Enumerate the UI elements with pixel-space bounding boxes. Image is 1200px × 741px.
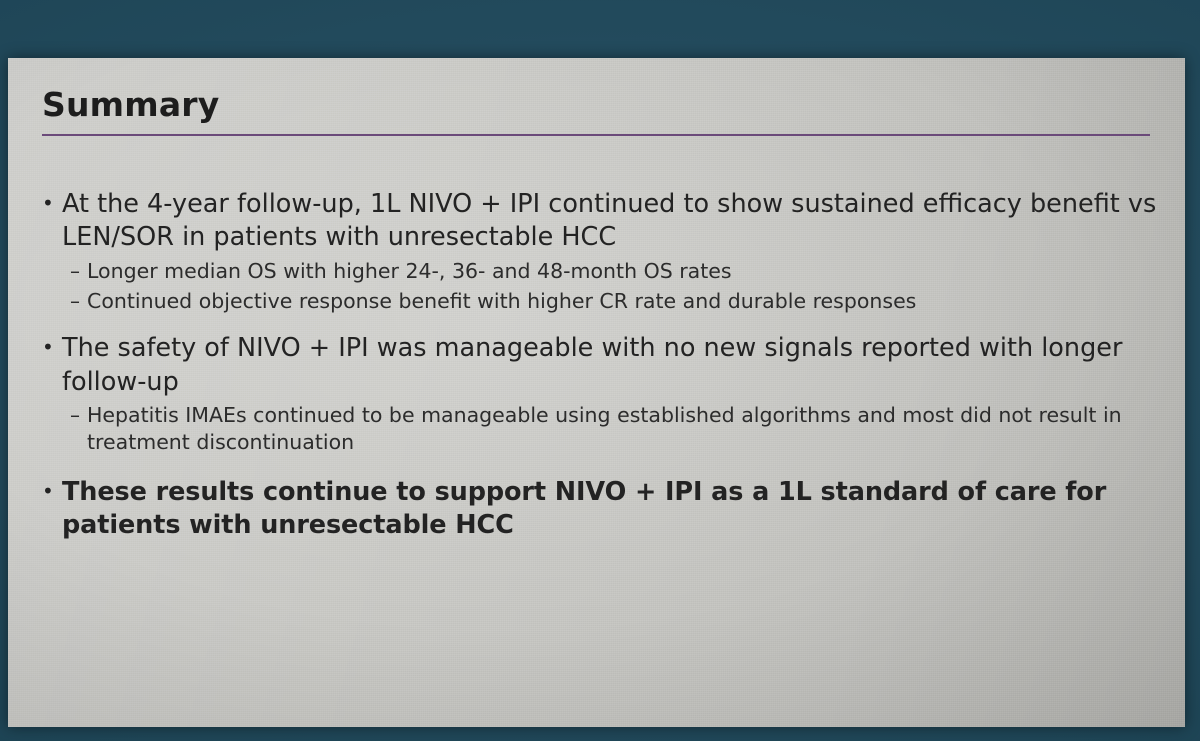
study-name-label: CheckMate 9DW bbox=[1064, 58, 1163, 60]
sub-bullet-text: Continued objective response benefit wit… bbox=[87, 288, 1157, 315]
dash-glyph-icon: – bbox=[70, 402, 87, 429]
slide-title: Summary bbox=[42, 85, 220, 124]
bullet-group: • The safety of NIVO + IPI was manageabl… bbox=[42, 332, 1157, 456]
bullet-group: • At the 4-year follow-up, 1L NIVO + IPI… bbox=[42, 188, 1157, 315]
slide-body: • At the 4-year follow-up, 1L NIVO + IPI… bbox=[42, 188, 1157, 544]
bullet-item: • The safety of NIVO + IPI was manageabl… bbox=[42, 332, 1157, 399]
bullet-text: These results continue to support NIVO +… bbox=[62, 476, 1157, 543]
title-underline-rule bbox=[42, 134, 1150, 136]
sub-bullet-text: Longer median OS with higher 24-, 36- an… bbox=[87, 258, 1157, 285]
bullet-glyph-icon: • bbox=[42, 332, 62, 363]
sub-bullet-text: Hepatitis IMAEs continued to be manageab… bbox=[87, 402, 1157, 457]
bullet-glyph-icon: • bbox=[42, 476, 62, 507]
sub-bullet-item: – Continued objective response benefit w… bbox=[70, 288, 1157, 315]
bullet-text: At the 4-year follow-up, 1L NIVO + IPI c… bbox=[62, 188, 1157, 255]
sub-bullet-item: – Longer median OS with higher 24-, 36- … bbox=[70, 258, 1157, 285]
sub-bullet-item: – Hepatitis IMAEs continued to be manage… bbox=[70, 402, 1157, 457]
presentation-slide: CheckMate 9DW Summary • At the 4-year fo… bbox=[8, 58, 1185, 727]
bullet-item: • These results continue to support NIVO… bbox=[42, 476, 1157, 543]
bullet-glyph-icon: • bbox=[42, 188, 62, 219]
dash-glyph-icon: – bbox=[70, 288, 87, 315]
bullet-text: The safety of NIVO + IPI was manageable … bbox=[62, 332, 1157, 399]
dash-glyph-icon: – bbox=[70, 258, 87, 285]
bullet-item: • At the 4-year follow-up, 1L NIVO + IPI… bbox=[42, 188, 1157, 255]
bullet-group: • These results continue to support NIVO… bbox=[42, 476, 1157, 543]
